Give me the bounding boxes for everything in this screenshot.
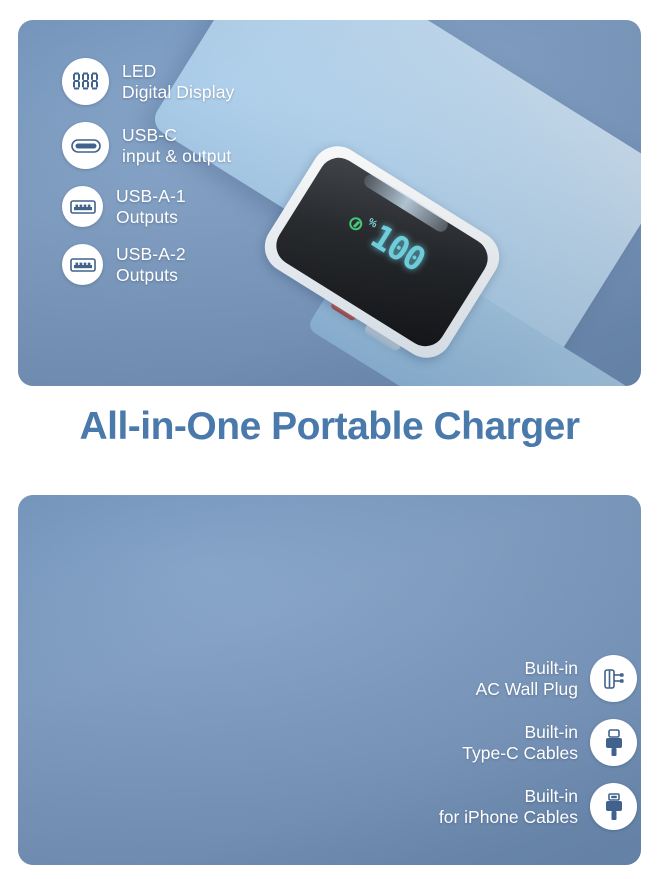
feature-usb-a-1-line2: Outputs bbox=[116, 207, 186, 227]
feature-ac-wall-plug-line1: Built-in bbox=[476, 658, 578, 678]
feature-led-display-line2: Digital Display bbox=[122, 82, 234, 102]
led-digital-display-icon bbox=[62, 58, 109, 105]
feature-ac-wall-plug-text: Built-in AC Wall Plug bbox=[476, 658, 578, 699]
feature-usb-c[interactable]: USB-C input & output bbox=[62, 122, 234, 169]
feature-usb-c-text: USB-C input & output bbox=[122, 125, 231, 166]
feature-type-c-cables-line1: Built-in bbox=[462, 722, 578, 742]
feature-type-c-cables-line2: Type-C Cables bbox=[462, 743, 578, 763]
feature-type-c-cables-text: Built-in Type-C Cables bbox=[462, 722, 578, 763]
feature-iphone-cables-text: Built-in for iPhone Cables bbox=[439, 786, 578, 827]
feature-usb-c-line1: USB-C bbox=[122, 125, 231, 145]
feature-usb-c-line2: input & output bbox=[122, 146, 231, 166]
usb-a-port-icon bbox=[62, 244, 103, 285]
feature-led-display[interactable]: LED Digital Display bbox=[62, 58, 234, 105]
feature-usb-a-1-line1: USB-A-1 bbox=[116, 186, 186, 206]
feature-led-display-line1: LED bbox=[122, 61, 234, 81]
usb-a-port-icon bbox=[62, 186, 103, 227]
lightning-connector-icon bbox=[590, 783, 637, 830]
usb-c-port-icon bbox=[62, 122, 109, 169]
feature-usb-a-2-text: USB-A-2 Outputs bbox=[116, 244, 186, 285]
feature-usb-a-2[interactable]: USB-A-2 Outputs bbox=[62, 244, 234, 285]
feature-usb-a-2-line2: Outputs bbox=[116, 265, 186, 285]
bottom-feature-list: Built-in AC Wall Plug Buil bbox=[439, 655, 637, 830]
top-feature-panel: % 100 bbox=[18, 20, 641, 386]
feature-led-display-text: LED Digital Display bbox=[122, 61, 234, 102]
product-infographic: % 100 bbox=[0, 0, 659, 879]
feature-iphone-cables-line2: for iPhone Cables bbox=[439, 807, 578, 827]
feature-iphone-cables-line1: Built-in bbox=[439, 786, 578, 806]
feature-ac-wall-plug-line2: AC Wall Plug bbox=[476, 679, 578, 699]
feature-iphone-cables[interactable]: Built-in for iPhone Cables bbox=[439, 783, 637, 830]
top-feature-list: LED Digital Display USB-C input & output bbox=[62, 58, 234, 285]
feature-usb-a-2-line1: USB-A-2 bbox=[116, 244, 186, 264]
feature-type-c-cables[interactable]: Built-in Type-C Cables bbox=[462, 719, 637, 766]
feature-usb-a-1[interactable]: USB-A-1 Outputs bbox=[62, 186, 234, 227]
feature-usb-a-1-text: USB-A-1 Outputs bbox=[116, 186, 186, 227]
feature-ac-wall-plug[interactable]: Built-in AC Wall Plug bbox=[476, 655, 637, 702]
ac-wall-plug-icon bbox=[590, 655, 637, 702]
page-title: All-in-One Portable Charger bbox=[0, 405, 659, 449]
type-c-connector-icon bbox=[590, 719, 637, 766]
